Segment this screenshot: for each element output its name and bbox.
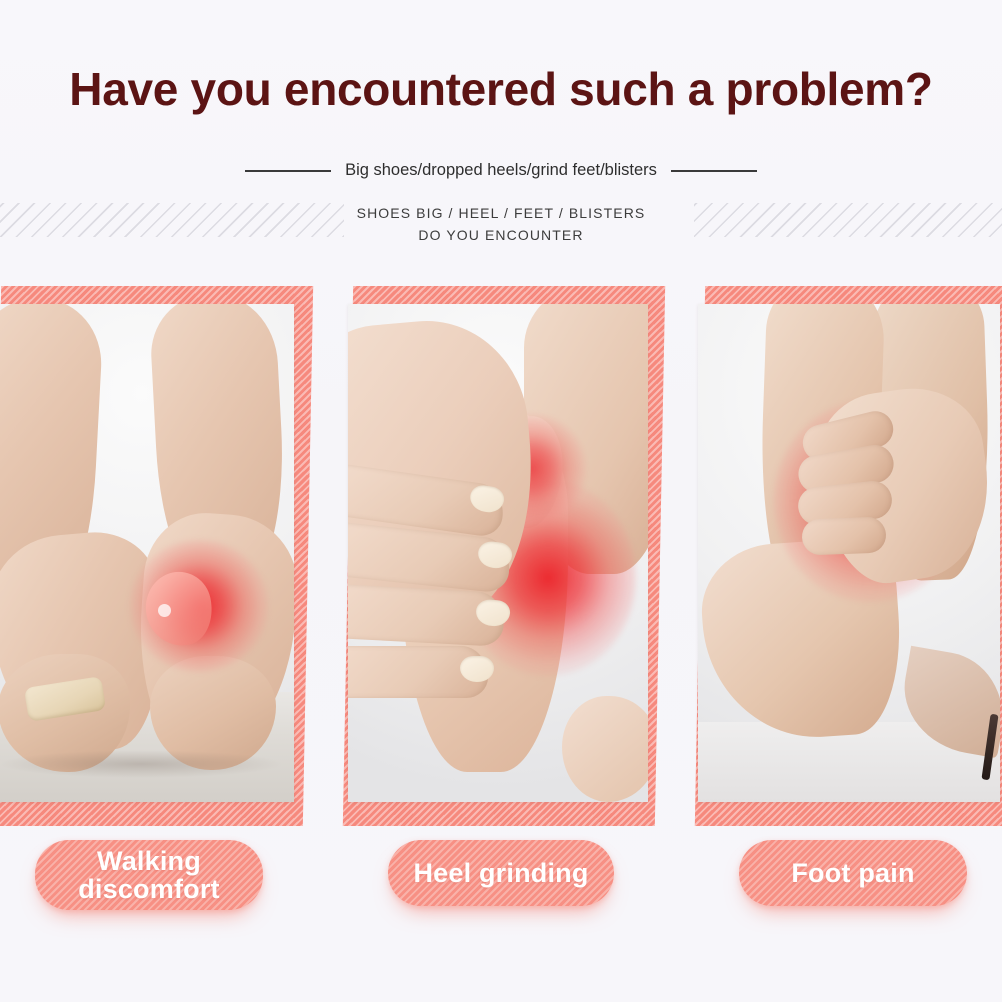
photo-ankle-held-by-hand: [698, 304, 1000, 802]
caption-pill-label: Heel grinding: [413, 859, 588, 887]
photo-heels-with-bandage: [0, 304, 294, 802]
pill-wrap-2: Heel grinding: [342, 840, 660, 906]
photo-panel-heel-grinding: [342, 282, 660, 827]
pill-wrap-3: Foot pain: [694, 840, 1002, 906]
photo-sole-pressed-by-hand: [348, 304, 648, 802]
photo-panel-group: [0, 282, 1002, 842]
finger-4: [801, 517, 886, 556]
floor-shadow: [0, 750, 284, 778]
caption-pill-group: Walking discomfort Heel grinding Foot pa…: [0, 840, 1002, 960]
english-caption-line-2: DO YOU ENCOUNTER: [0, 225, 1002, 247]
caption-pill-label: Walking discomfort: [78, 847, 220, 903]
english-caption: SHOES BIG / HEEL / FEET / BLISTERS DO YO…: [0, 203, 1002, 246]
promo-page: Have you encountered such a problem? Big…: [0, 0, 1002, 1002]
page-title: Have you encountered such a problem?: [0, 62, 1002, 116]
pill-wrap-1: Walking discomfort: [0, 840, 308, 910]
rule-left-icon: [245, 170, 331, 172]
caption-pill-foot-pain[interactable]: Foot pain: [739, 840, 967, 906]
photo-panel-walking-discomfort: [0, 282, 308, 827]
subtitle-row: Big shoes/dropped heels/grind feet/blist…: [0, 161, 1002, 180]
photo-panel-foot-pain: [694, 282, 1002, 827]
far-heel: [562, 696, 648, 802]
caption-pill-heel-grinding[interactable]: Heel grinding: [388, 840, 614, 906]
caption-pill-walking-discomfort[interactable]: Walking discomfort: [35, 840, 263, 910]
caption-pill-label: Foot pain: [791, 859, 914, 887]
english-caption-line-1: SHOES BIG / HEEL / FEET / BLISTERS: [0, 203, 1002, 225]
blister-highlight: [158, 604, 171, 617]
subtitle-text: Big shoes/dropped heels/grind feet/blist…: [345, 161, 657, 180]
rule-right-icon: [671, 170, 757, 172]
